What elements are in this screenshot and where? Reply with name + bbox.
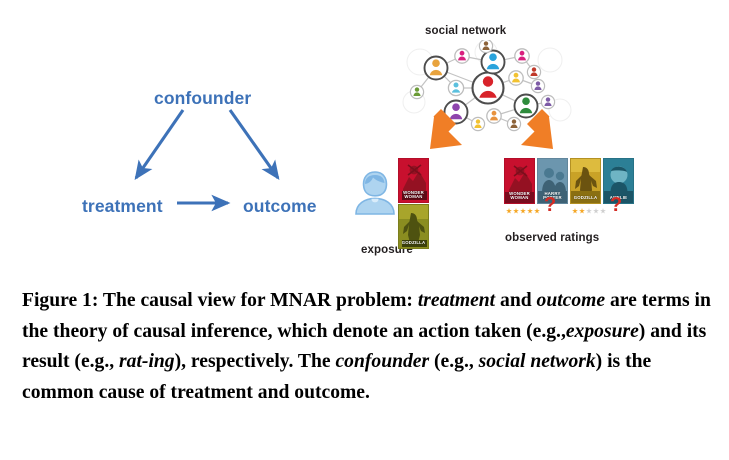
star-icon	[593, 208, 599, 214]
rating-item-3: ?	[610, 198, 622, 216]
caption-segment: (e.g.,	[429, 351, 479, 372]
network-node-small	[455, 49, 469, 63]
caption-segment: confounder	[335, 351, 429, 372]
star-icon	[586, 208, 592, 214]
star-icon	[600, 208, 606, 214]
poster-title: GODZILLA	[571, 196, 600, 201]
social-network-label: social network	[425, 25, 506, 37]
node-outcome: outcome	[243, 196, 317, 217]
observed-ratings-label: observed ratings	[505, 232, 599, 244]
network-node-small	[515, 49, 529, 63]
star-icon	[572, 208, 578, 214]
star-icon	[579, 208, 585, 214]
poster-title: WONDER WOMAN	[505, 192, 534, 201]
arrow-to-ratings	[521, 109, 553, 149]
arrow-to-exposure	[430, 109, 462, 149]
poster-exposure-0: WONDER WOMAN	[398, 158, 429, 203]
star-rating	[572, 208, 606, 214]
network-node-small	[531, 79, 544, 92]
network-node-small	[527, 65, 540, 78]
network-node-small	[509, 71, 523, 85]
figure-caption: Figure 1: The causal view for MNAR probl…	[22, 286, 712, 408]
star-icon	[506, 208, 512, 214]
network-node-small	[448, 80, 463, 95]
causal-diagram: confounder treatment outcome	[60, 70, 360, 245]
caption-segment: treatment	[418, 290, 495, 311]
star-icon	[513, 208, 519, 214]
caption-segment: ), respectively. The	[175, 351, 336, 372]
mnar-illustration: social network	[330, 0, 729, 270]
caption-segment: and	[495, 290, 536, 311]
caption-segment: social network	[479, 351, 596, 372]
rating-item-2	[572, 208, 606, 214]
caption-segment: outcome	[537, 290, 606, 311]
caption-segment: rat-ing	[119, 351, 175, 372]
poster-title: WONDER WOMAN	[399, 191, 428, 200]
star-rating	[506, 208, 540, 214]
network-node	[482, 51, 505, 74]
caption-segment: exposure	[566, 321, 639, 342]
node-treatment: treatment	[82, 196, 163, 217]
node-confounder: confounder	[154, 88, 251, 109]
network-node-small	[479, 40, 492, 53]
star-icon	[520, 208, 526, 214]
poster-title: GODZILLA	[399, 241, 428, 246]
orange-arrows	[380, 95, 670, 165]
star-icon	[534, 208, 540, 214]
unknown-rating-icon: ?	[610, 194, 622, 216]
poster-observed-0: WONDER WOMAN	[504, 158, 535, 204]
star-icon	[527, 208, 533, 214]
poster-observed-2: GODZILLA	[570, 158, 601, 204]
rating-item-0	[506, 208, 540, 214]
rating-item-1: ?	[544, 198, 556, 216]
poster-exposure-1: GODZILLA	[398, 204, 429, 249]
caption-segment: Figure 1: The causal view for MNAR probl…	[22, 290, 418, 311]
user-avatar-icon	[352, 168, 398, 218]
unknown-rating-icon: ?	[544, 194, 556, 216]
network-node	[425, 57, 448, 80]
